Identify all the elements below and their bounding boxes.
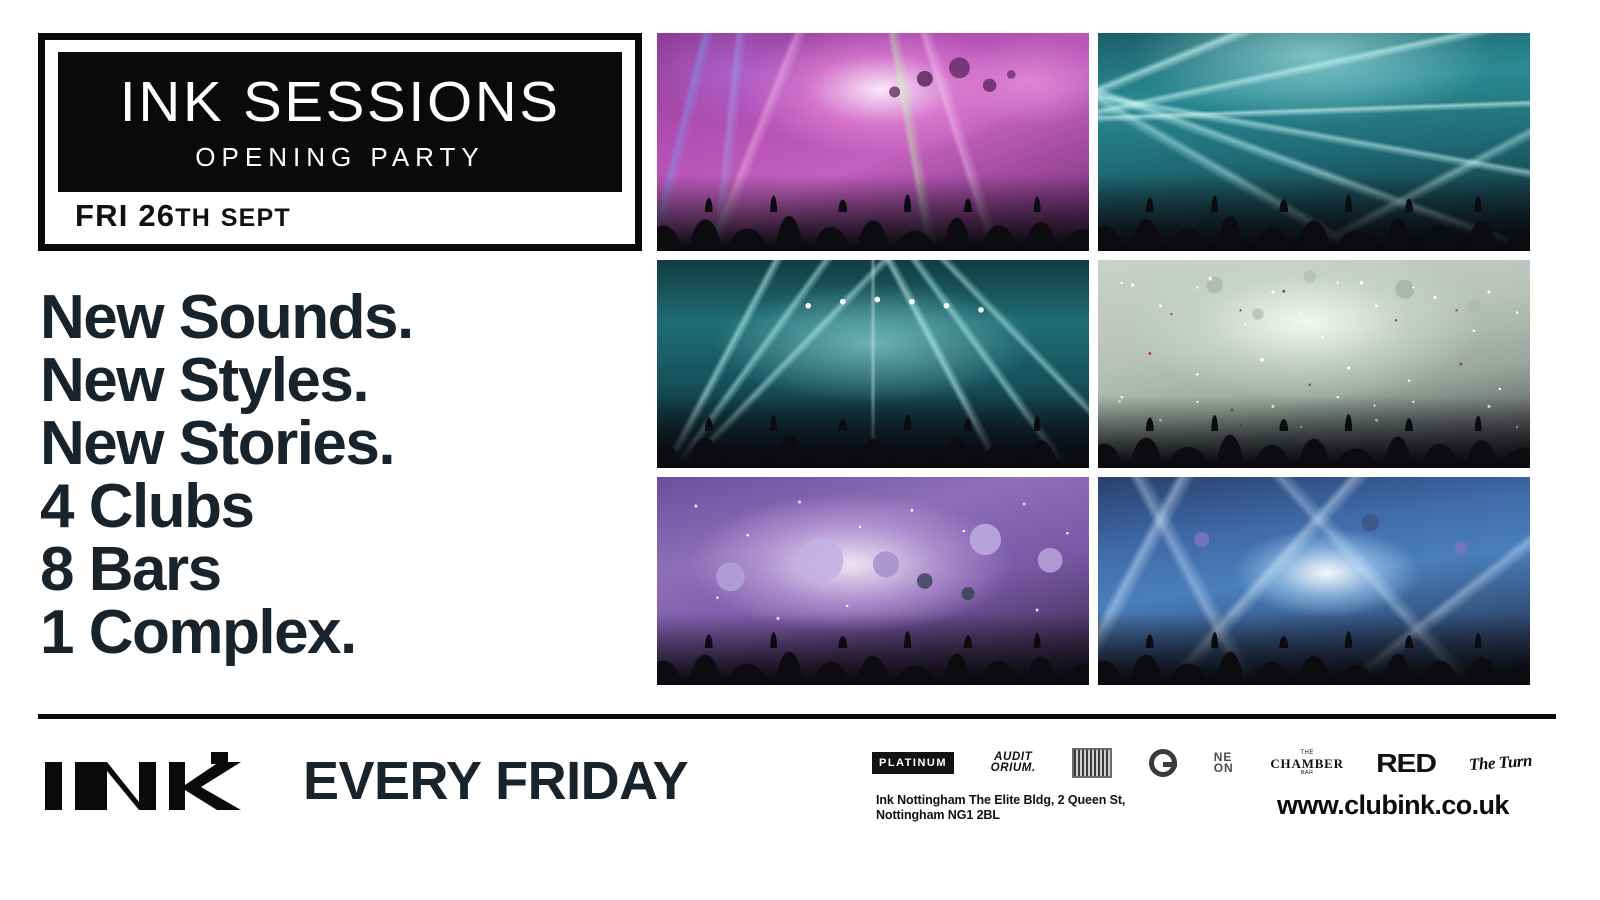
logo-barcode-venue-icon <box>1072 748 1112 778</box>
venue-logo-strip: PLATINUM AUDIT ORIUM. NE ON THE CHAMBER … <box>872 744 1532 782</box>
photo-blue-club-interior <box>1098 477 1530 685</box>
logo-auditorium-bottom: ORIUM. <box>991 763 1036 774</box>
date-month: SEPT <box>221 204 291 232</box>
photo-magenta-crowd-lights <box>657 33 1089 251</box>
event-date: FRI 26TH SEPT <box>75 200 291 231</box>
date-prefix: FRI 26 <box>75 198 175 233</box>
logo-neon-bottom: ON <box>1214 763 1234 774</box>
headline-block: New Sounds. New Styles. New Stories. 4 C… <box>40 286 620 664</box>
headline-line-4: 4 Clubs <box>40 475 620 538</box>
logo-auditorium-icon: AUDIT ORIUM. <box>991 752 1036 774</box>
footer-brand-block: EVERY FRIDAY <box>45 752 688 810</box>
barcode-icon <box>1072 748 1112 778</box>
logo-the-chamber-icon: THE CHAMBER BAR <box>1270 750 1344 777</box>
ink-logo-icon <box>45 752 241 810</box>
venue-address: Ink Nottingham The Elite Bldg, 2 Queen S… <box>876 793 1125 823</box>
photo-purple-balloons <box>657 477 1089 685</box>
logo-chamber-bottom: BAR <box>1270 771 1344 777</box>
date-ordinal: TH <box>175 204 211 232</box>
headline-line-5: 8 Bars <box>40 538 620 601</box>
photo-laser-fan-crowd <box>657 260 1089 468</box>
raised-hands <box>657 138 1089 212</box>
title-plaque-inner: INK SESSIONS OPENING PARTY <box>58 52 622 192</box>
event-subtitle: OPENING PARTY <box>195 144 484 170</box>
photo-teal-beam-crowd <box>1098 33 1530 251</box>
logo-chamber-main: CHAMBER <box>1270 757 1344 770</box>
logo-chamber-top: THE <box>1270 750 1344 756</box>
raised-hands <box>1098 138 1530 212</box>
photo-grid <box>657 33 1530 687</box>
raised-hands <box>657 577 1089 648</box>
poster-canvas: INK SESSIONS OPENING PARTY FRI 26TH SEPT… <box>0 0 1600 900</box>
raised-hands <box>1098 360 1530 431</box>
raised-hands <box>1098 577 1530 648</box>
footer-divider <box>38 714 1556 719</box>
logo-platinum-icon: PLATINUM <box>872 752 954 774</box>
event-name: INK SESSIONS <box>120 74 561 131</box>
logo-the-turn-icon: The Turn <box>1468 751 1532 775</box>
headline-line-2: New Styles. <box>40 349 620 412</box>
headline-line-1: New Sounds. <box>40 286 620 349</box>
photo-confetti-shower <box>1098 260 1530 468</box>
title-plaque: INK SESSIONS OPENING PARTY FRI 26TH SEPT <box>38 33 642 251</box>
raised-hands <box>657 360 1089 431</box>
logo-red-icon: RED <box>1377 748 1437 779</box>
headline-line-6: 1 Complex. <box>40 601 620 664</box>
address-line-1: Ink Nottingham The Elite Bldg, 2 Queen S… <box>876 793 1125 808</box>
tagline-every-friday: EVERY FRIDAY <box>303 754 688 808</box>
address-line-2: Nottingham NG1 2BL <box>876 808 1125 823</box>
circle-c-icon <box>1149 749 1177 777</box>
website-url: www.clubink.co.uk <box>1277 790 1509 821</box>
headline-line-3: New Stories. <box>40 412 620 475</box>
logo-circle-c-venue-icon <box>1149 749 1177 777</box>
logo-neon-icon: NE ON <box>1214 752 1234 774</box>
